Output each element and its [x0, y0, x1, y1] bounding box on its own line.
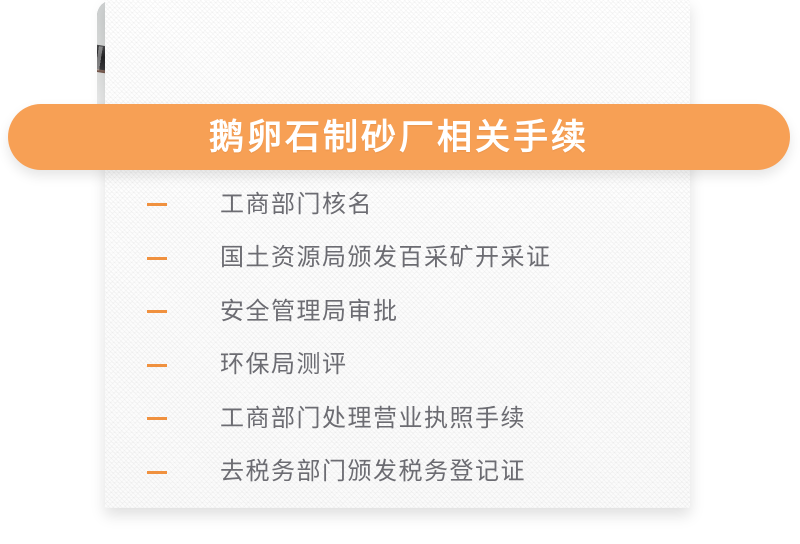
list-item: 去税务部门颁发税务登记证 — [105, 446, 690, 500]
procedure-list: 工商部门核名 国土资源局颁发百采矿开采证 安全管理局审批 环保局测评 工商部门处… — [105, 178, 690, 499]
list-item: 环保局测评 — [105, 339, 690, 393]
dash-marker-icon — [147, 203, 167, 206]
list-item: 工商部门处理营业执照手续 — [105, 392, 690, 446]
list-item-label: 去税务部门颁发税务登记证 — [220, 460, 526, 484]
list-item: 安全管理局审批 — [105, 285, 690, 339]
dash-marker-icon — [147, 417, 167, 420]
list-item: 工商部门核名 — [105, 178, 690, 232]
list-item-label: 工商部门核名 — [220, 193, 373, 217]
list-item-label: 安全管理局审批 — [220, 300, 399, 324]
dash-marker-icon — [147, 257, 167, 260]
list-item-label: 国土资源局颁发百采矿开采证 — [220, 246, 552, 270]
dash-marker-icon — [147, 364, 167, 367]
title-banner: 鹅卵石制砂厂相关手续 — [8, 104, 790, 170]
dash-marker-icon — [147, 471, 167, 474]
list-item: 国土资源局颁发百采矿开采证 — [105, 232, 690, 286]
dash-marker-icon — [147, 310, 167, 313]
page-title: 鹅卵石制砂厂相关手续 — [209, 120, 589, 155]
list-item-label: 环保局测评 — [220, 353, 348, 377]
list-item-label: 工商部门处理营业执照手续 — [220, 407, 526, 431]
